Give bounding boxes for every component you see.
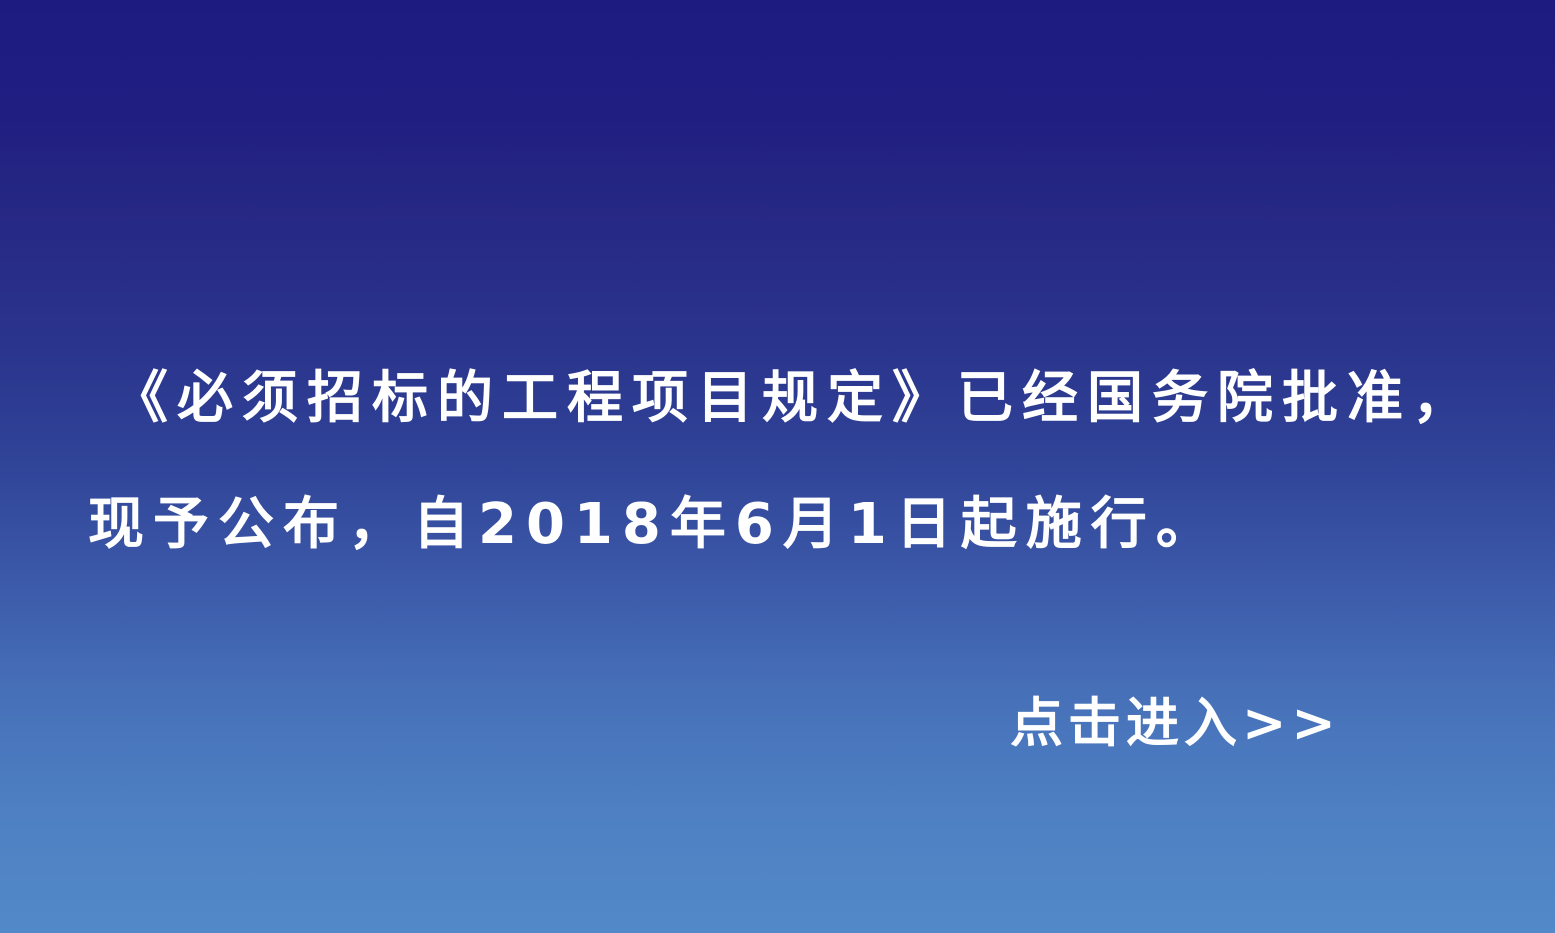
headline-line-2: 现予公布，自2018年6月1日起施行。	[0, 462, 1555, 588]
headline-block: 《必须招标的工程项目规定》已经国务院批准， 现予公布，自2018年6月1日起施行…	[0, 336, 1555, 588]
promo-poster: 《必须招标的工程项目规定》已经国务院批准， 现予公布，自2018年6月1日起施行…	[0, 0, 1555, 933]
enter-link[interactable]: 点击进入>>	[1010, 688, 1341, 760]
headline-line-1: 《必须招标的工程项目规定》已经国务院批准，	[0, 336, 1555, 462]
